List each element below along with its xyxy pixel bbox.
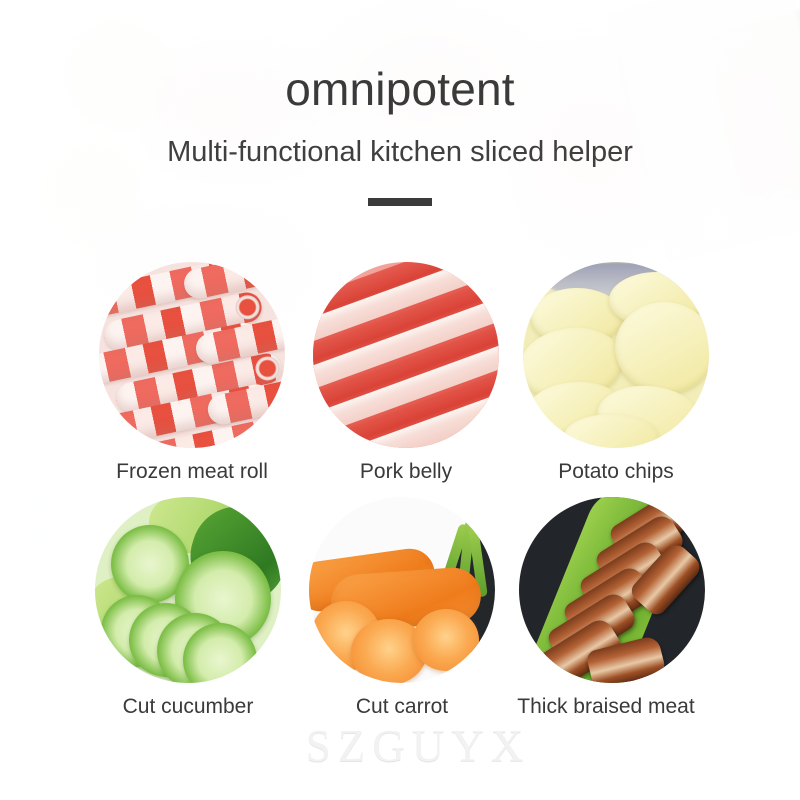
cut-cucumber-image xyxy=(95,497,281,683)
feature-label: Cut carrot xyxy=(295,695,509,718)
feature-label: Pork belly xyxy=(299,460,513,483)
watermark: SZGUYX xyxy=(0,720,800,772)
feature-label: Cut cucumber xyxy=(81,695,295,718)
feature-item-cut-cucumber: Cut cucumber xyxy=(81,497,295,718)
feature-item-thick-braised-meat: Thick braised meat xyxy=(505,497,719,718)
thick-braised-meat-image xyxy=(519,497,705,683)
frozen-meat-roll-image xyxy=(99,262,285,448)
title-divider xyxy=(368,198,432,206)
feature-item-cut-carrot: Cut carrot xyxy=(295,497,509,718)
page-title: omnipotent xyxy=(0,0,800,112)
feature-label: Thick braised meat xyxy=(499,695,713,718)
potato-chips-image xyxy=(523,262,709,448)
feature-item-frozen-meat-roll: Frozen meat roll xyxy=(85,262,299,483)
feature-row: Frozen meat roll Pork belly xyxy=(0,262,800,483)
page-subtitle: Multi-functional kitchen sliced helper xyxy=(0,112,800,167)
product-infographic: omnipotent Multi-functional kitchen slic… xyxy=(0,0,800,800)
pork-belly-image xyxy=(313,262,499,448)
feature-label: Potato chips xyxy=(509,460,723,483)
feature-grid: Frozen meat roll Pork belly xyxy=(0,262,800,718)
cut-carrot-image xyxy=(309,497,495,683)
header: omnipotent Multi-functional kitchen slic… xyxy=(0,0,800,206)
feature-item-potato-chips: Potato chips xyxy=(509,262,723,483)
feature-label: Frozen meat roll xyxy=(85,460,299,483)
feature-row: Cut cucumber Cut carrot xyxy=(0,497,800,718)
feature-item-pork-belly: Pork belly xyxy=(299,262,513,483)
